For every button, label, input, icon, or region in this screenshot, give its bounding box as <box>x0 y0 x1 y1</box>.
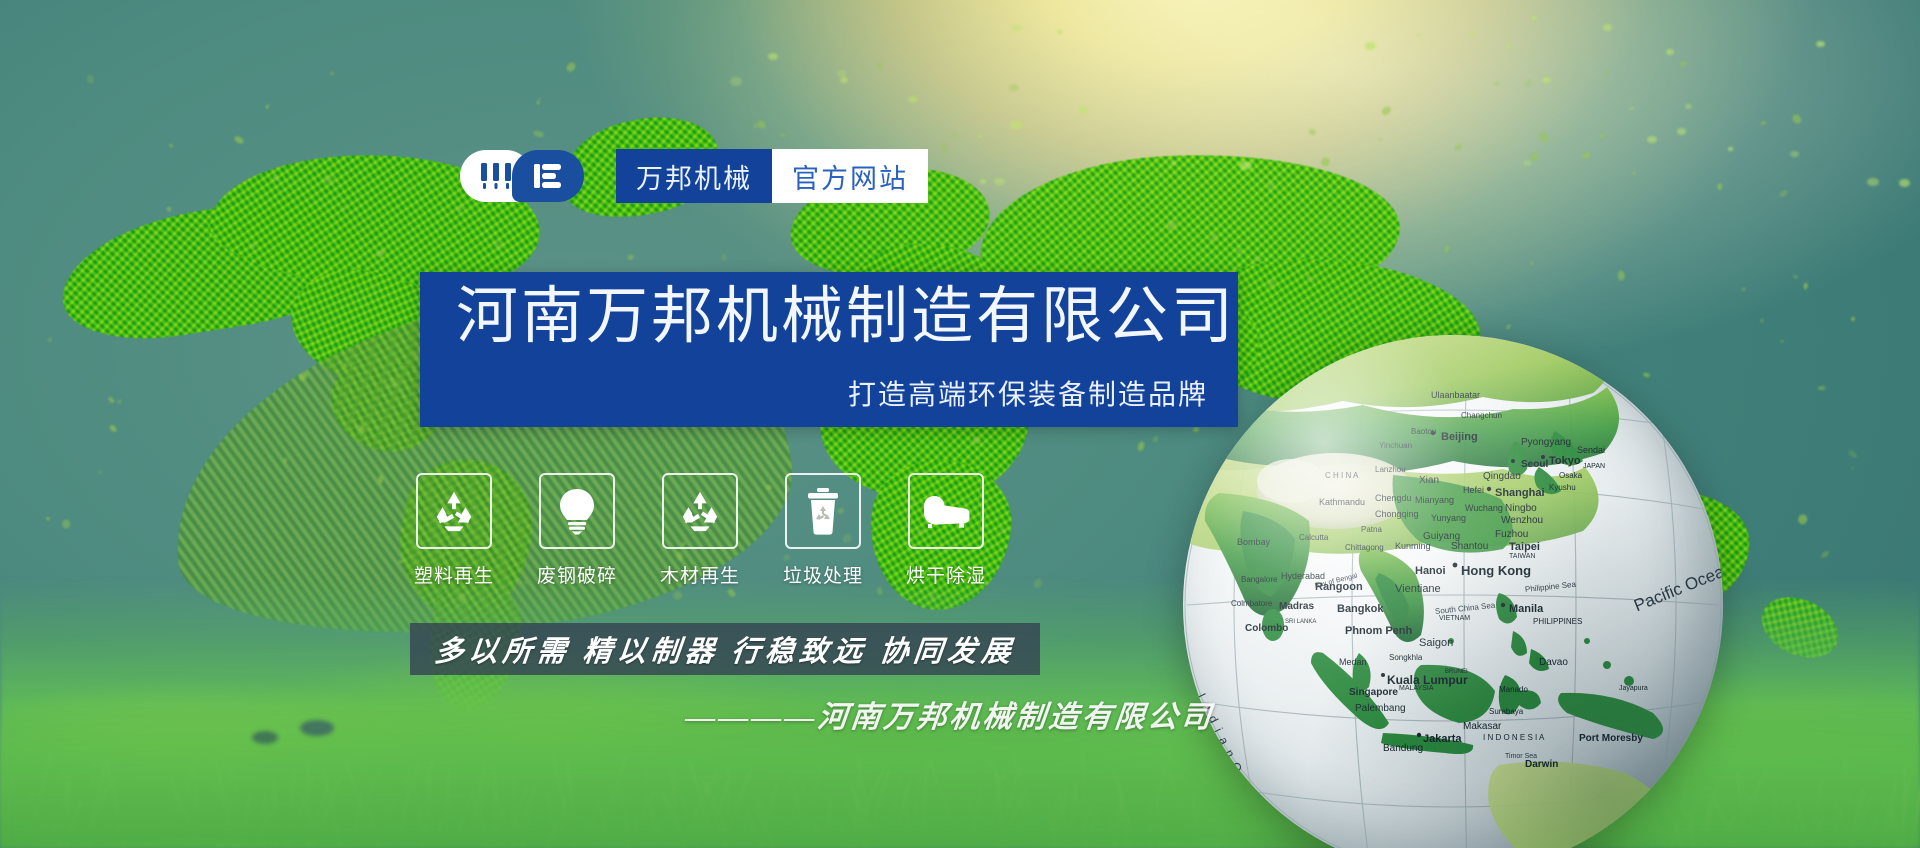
service-item-5[interactable]: 烘干除湿 <box>908 473 984 588</box>
service-item-1[interactable]: 塑料再生 <box>416 473 492 588</box>
service-label: 烘干除湿 <box>906 561 986 588</box>
globe-map-svg <box>1183 335 1723 848</box>
sun-spark <box>980 179 986 183</box>
leaf-fleck <box>941 143 948 152</box>
company-name: 河南万邦机械制造有限公司 <box>456 286 1236 348</box>
earth-globe: UlaanbaatarBeijingBaotouChangchunYinchua… <box>1183 335 1723 848</box>
leaf-fleck <box>1717 183 1722 190</box>
sun-spark <box>1365 42 1376 50</box>
sun-spark <box>1416 33 1421 37</box>
leaf-fleck <box>1009 84 1019 91</box>
sun-spark <box>837 70 847 77</box>
recycle-icon <box>416 473 492 549</box>
company-banner: 河南万邦机械制造有限公司 打造高端环保装备制造品牌 <box>420 272 1238 427</box>
logo-w-icon <box>479 163 513 189</box>
sun-spark <box>1078 106 1087 113</box>
sun-spark <box>1677 128 1687 135</box>
sun-spark <box>1867 178 1879 186</box>
logo-b-icon <box>533 163 563 189</box>
sun-spark <box>730 77 742 85</box>
sun-spark <box>1647 136 1657 143</box>
service-label: 木材再生 <box>660 561 740 588</box>
globe-sphere: UlaanbaatarBeijingBaotouChangchunYinchua… <box>1183 335 1723 848</box>
pebble <box>252 731 278 744</box>
service-list: 塑料再生废钢破碎木材再生垃圾处理烘干除湿 <box>416 473 984 588</box>
tab-brand[interactable]: 万邦机械 <box>616 149 772 203</box>
leaf-fleck <box>603 145 607 148</box>
company-tagline: 打造高端环保装备制造品牌 <box>848 373 1208 413</box>
logo-b-bubble <box>512 150 584 202</box>
lightbulb-icon <box>539 473 615 549</box>
leaf-fleck <box>1493 81 1500 85</box>
site-header: 万邦机械 官方网站 <box>460 148 928 204</box>
sun-spark <box>1542 77 1551 83</box>
service-item-2[interactable]: 废钢破碎 <box>539 473 615 588</box>
sun-spark <box>908 96 917 102</box>
leaf-fleck <box>1617 270 1625 280</box>
service-label: 垃圾处理 <box>783 561 863 588</box>
dryer-icon <box>908 473 984 549</box>
slogan-text: 多以所需 精以制器 行稳致远 协同发展 <box>432 628 1017 670</box>
service-item-3[interactable]: 木材再生 <box>662 473 738 588</box>
sun-spark <box>1666 49 1675 55</box>
sun-spark <box>1523 160 1531 166</box>
service-item-4[interactable]: 垃圾处理 <box>785 473 861 588</box>
sun-spark <box>1170 161 1176 165</box>
recycle-icon <box>662 473 738 549</box>
sun-spark <box>1239 161 1251 170</box>
sun-spark <box>768 53 779 60</box>
header-tabs: 万邦机械 官方网站 <box>616 149 928 203</box>
sun-spark <box>1531 16 1537 20</box>
sun-spark <box>1816 41 1825 47</box>
slogan-signature: ————河南万邦机械制造有限公司 <box>638 692 1263 736</box>
slogan-bar: 多以所需 精以制器 行稳致远 协同发展 <box>410 623 1040 675</box>
service-label: 塑料再生 <box>414 561 494 588</box>
sun-spark <box>1728 147 1733 151</box>
wanbang-logo[interactable] <box>460 148 580 204</box>
service-label: 废钢破碎 <box>537 561 617 588</box>
pebble <box>300 720 334 736</box>
tab-official-site[interactable]: 官方网站 <box>772 149 928 203</box>
trash-bin-icon <box>785 473 861 549</box>
sun-spark <box>1899 179 1910 187</box>
sun-spark <box>1603 24 1612 30</box>
hero-banner: UlaanbaatarBeijingBaotouChangchunYinchua… <box>0 0 1920 848</box>
